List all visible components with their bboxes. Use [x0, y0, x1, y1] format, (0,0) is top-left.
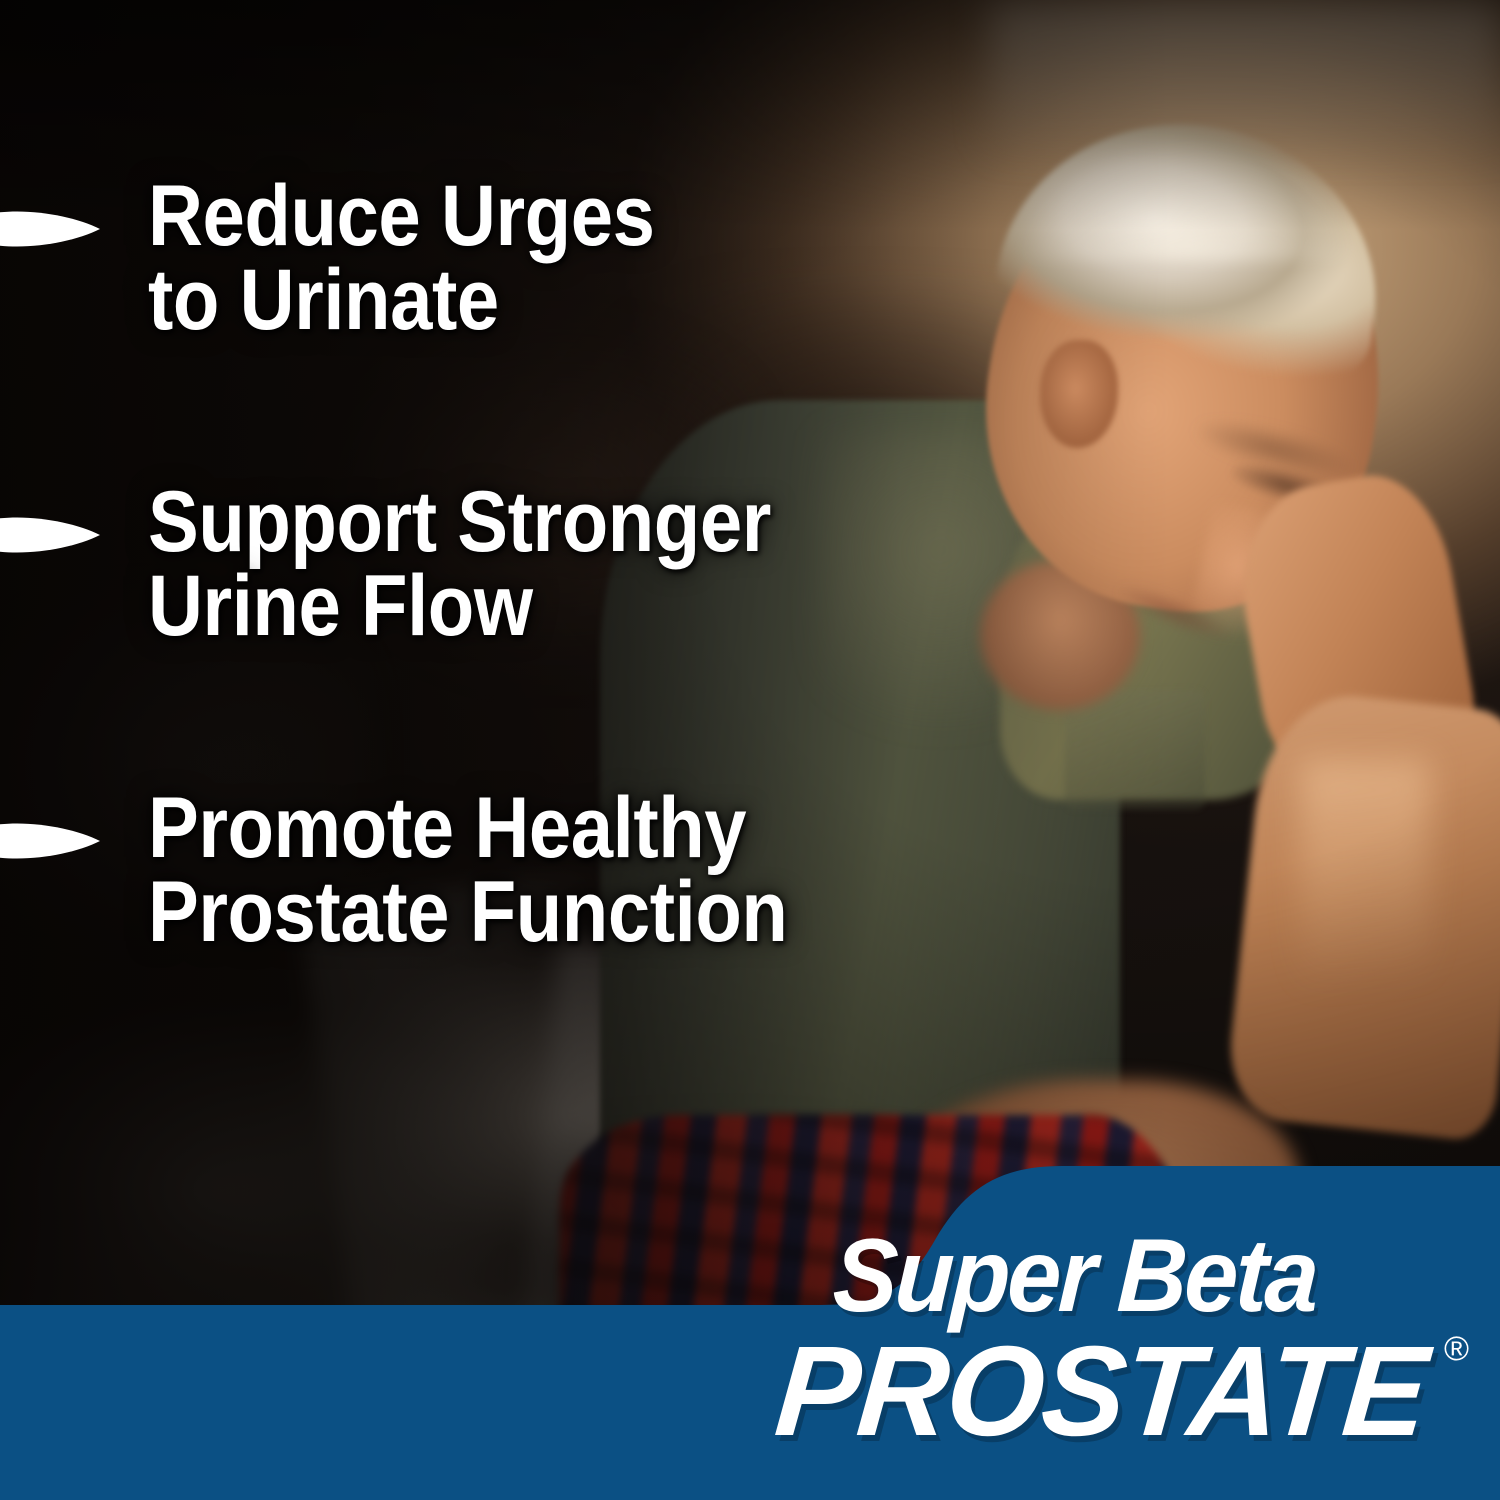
benefit-item: Promote Healthy Prostate Function	[0, 808, 871, 955]
brand-banner	[0, 1100, 1500, 1500]
benefit-label: Support Stronger Urine Flow	[148, 480, 771, 649]
benefit-item: Reduce Urges to Urinate	[0, 196, 720, 343]
arrow-dash-marker-icon	[0, 808, 104, 880]
arrow-dash-marker-icon	[0, 196, 104, 268]
benefit-item: Support Stronger Urine Flow	[0, 502, 852, 649]
advertisement-banner: Reduce Urges to Urinate Support Stronger…	[0, 0, 1500, 1500]
benefit-label: Promote Healthy Prostate Function	[148, 786, 787, 955]
arrow-dash-marker-icon	[0, 502, 104, 574]
benefit-label: Reduce Urges to Urinate	[148, 174, 655, 343]
